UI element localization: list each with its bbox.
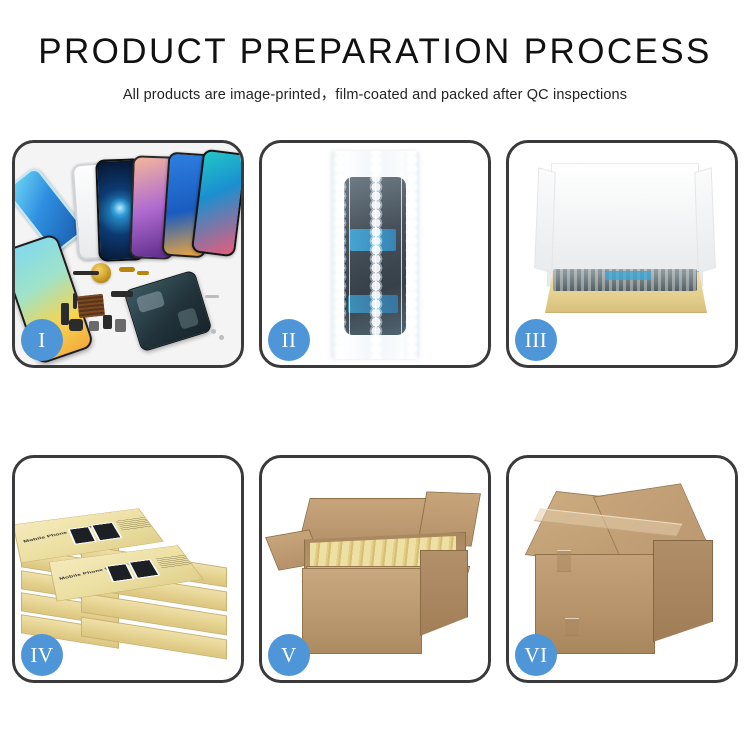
step-badge-4: IV — [21, 634, 63, 676]
connector-chip — [77, 294, 105, 319]
flex-cable-part — [119, 267, 135, 272]
step-6-image: VI — [509, 458, 735, 680]
step-panel-1: I — [12, 140, 244, 368]
bag-seam — [401, 151, 402, 359]
step-panel-3: III — [506, 140, 738, 368]
tape-tab — [557, 550, 571, 572]
bag-seam — [375, 151, 376, 359]
page-header: PRODUCT PREPARATION PROCESS All products… — [0, 0, 750, 104]
earpiece-mesh-part — [73, 271, 99, 275]
screw-part — [211, 329, 216, 334]
camera-module-part — [103, 315, 112, 329]
step-badge-1: I — [21, 319, 63, 361]
step-2-image: II — [262, 143, 488, 365]
small-part — [115, 319, 126, 332]
carton-front-face — [302, 568, 422, 654]
step-3-image: III — [509, 143, 735, 365]
box-spec-lines — [156, 555, 191, 569]
page-subtitle: All products are image-printed，film-coat… — [0, 83, 750, 104]
sealed-carton-front-face — [535, 554, 655, 654]
tape-tab — [565, 618, 579, 636]
step-badge-6: VI — [515, 634, 557, 676]
flex-cable-part — [137, 271, 149, 275]
mailer-box-contents — [553, 269, 697, 291]
flex-connector-part — [111, 291, 133, 297]
vibration-motor-part — [69, 319, 83, 331]
small-part — [73, 293, 77, 309]
box-spec-lines — [116, 517, 151, 531]
bubble-wrap-bag — [331, 151, 419, 359]
step-badge-3: III — [515, 319, 557, 361]
step-panel-4: Mobile Phone Spare Parts Mobile Phone Sp… — [12, 455, 244, 683]
step-1-image: I — [15, 143, 241, 365]
step-panel-5: V — [259, 455, 491, 683]
mailer-box-lid — [547, 163, 704, 286]
bag-seam — [349, 151, 350, 359]
tweezers-tool — [205, 295, 219, 298]
page-title: PRODUCT PREPARATION PROCESS — [0, 34, 750, 71]
sim-tray-part — [61, 303, 69, 325]
step-4-image: Mobile Phone Spare Parts Mobile Phone Sp… — [15, 458, 241, 680]
small-part — [89, 321, 99, 331]
screw-part — [219, 335, 224, 340]
step-panel-2: II — [259, 140, 491, 368]
step-5-image: V — [262, 458, 488, 680]
process-steps-grid: I II III — [12, 140, 738, 683]
step-badge-5: V — [268, 634, 310, 676]
step-panel-6: VI — [506, 455, 738, 683]
step-badge-2: II — [268, 319, 310, 361]
